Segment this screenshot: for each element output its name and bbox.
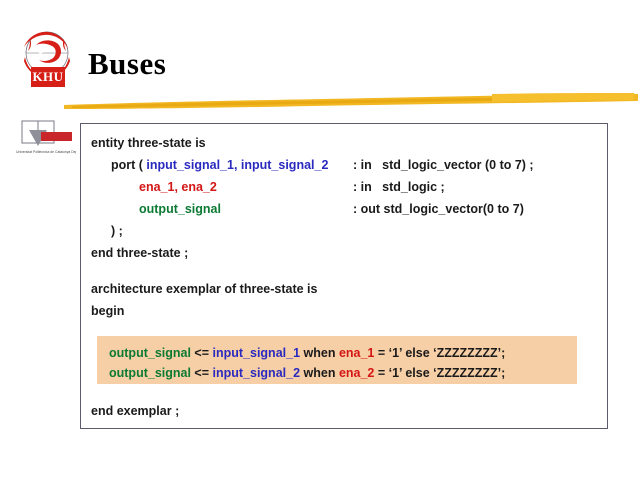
assign2-operator: <= xyxy=(191,366,213,380)
code-line-end-architecture: end exemplar ; xyxy=(91,404,179,418)
assignment-highlight-block: output_signal <= input_signal_1 when ena… xyxy=(97,336,577,384)
code-line-entity: entity three-state is xyxy=(91,136,206,150)
assign2-tail: = ‘1’ else ‘ZZZZZZZZ’; xyxy=(374,366,505,380)
code-line-begin: begin xyxy=(91,304,124,318)
assign1-operator: <= xyxy=(191,346,213,360)
assign1-target: output_signal xyxy=(109,346,191,360)
code-listing-box: entity three-state is port ( input_signa… xyxy=(80,123,608,429)
department-logo: Universitat Politecnica de Catalunya Dep… xyxy=(16,120,76,166)
page-title: Buses xyxy=(88,46,166,82)
code-line-port-open: port ( input_signal_1, input_signal_2 xyxy=(111,158,328,172)
port-keyword: port ( xyxy=(111,158,146,172)
khu-logo: KHU xyxy=(18,27,76,89)
assign1-when: when xyxy=(300,346,339,360)
slide-header: KHU Buses xyxy=(0,0,640,118)
port1-type: : in std_logic_vector (0 to 7) ; xyxy=(353,158,534,172)
assign2-target: output_signal xyxy=(109,366,191,380)
assign2-when: when xyxy=(300,366,339,380)
dept-badge xyxy=(41,132,72,141)
port3-signals: output_signal xyxy=(139,202,221,216)
assignment-line-1: output_signal <= input_signal_1 when ena… xyxy=(109,346,505,360)
assign1-tail: = ‘1’ else ‘ZZZZZZZZ’; xyxy=(374,346,505,360)
port3-type: : out std_logic_vector(0 to 7) xyxy=(353,202,524,216)
port2-signals: ena_1, ena_2 xyxy=(139,180,217,194)
assign2-enable: ena_2 xyxy=(339,366,374,380)
assign1-source: input_signal_1 xyxy=(213,346,301,360)
assignment-line-2: output_signal <= input_signal_2 when ena… xyxy=(109,366,505,380)
code-line-close-paren: ) ; xyxy=(111,224,123,238)
port1-signals: input_signal_1, input_signal_2 xyxy=(146,158,328,172)
code-line-architecture: architecture exemplar of three-state is xyxy=(91,282,317,296)
assign1-enable: ena_1 xyxy=(339,346,374,360)
code-line-end-entity: end three-state ; xyxy=(91,246,188,260)
khu-logo-text: KHU xyxy=(31,67,65,87)
port2-type: : in std_logic ; xyxy=(353,180,445,194)
dept-caption: Universitat Politecnica de Catalunya Dep… xyxy=(16,150,76,155)
title-underline-brush xyxy=(62,92,640,112)
assign2-source: input_signal_2 xyxy=(213,366,301,380)
